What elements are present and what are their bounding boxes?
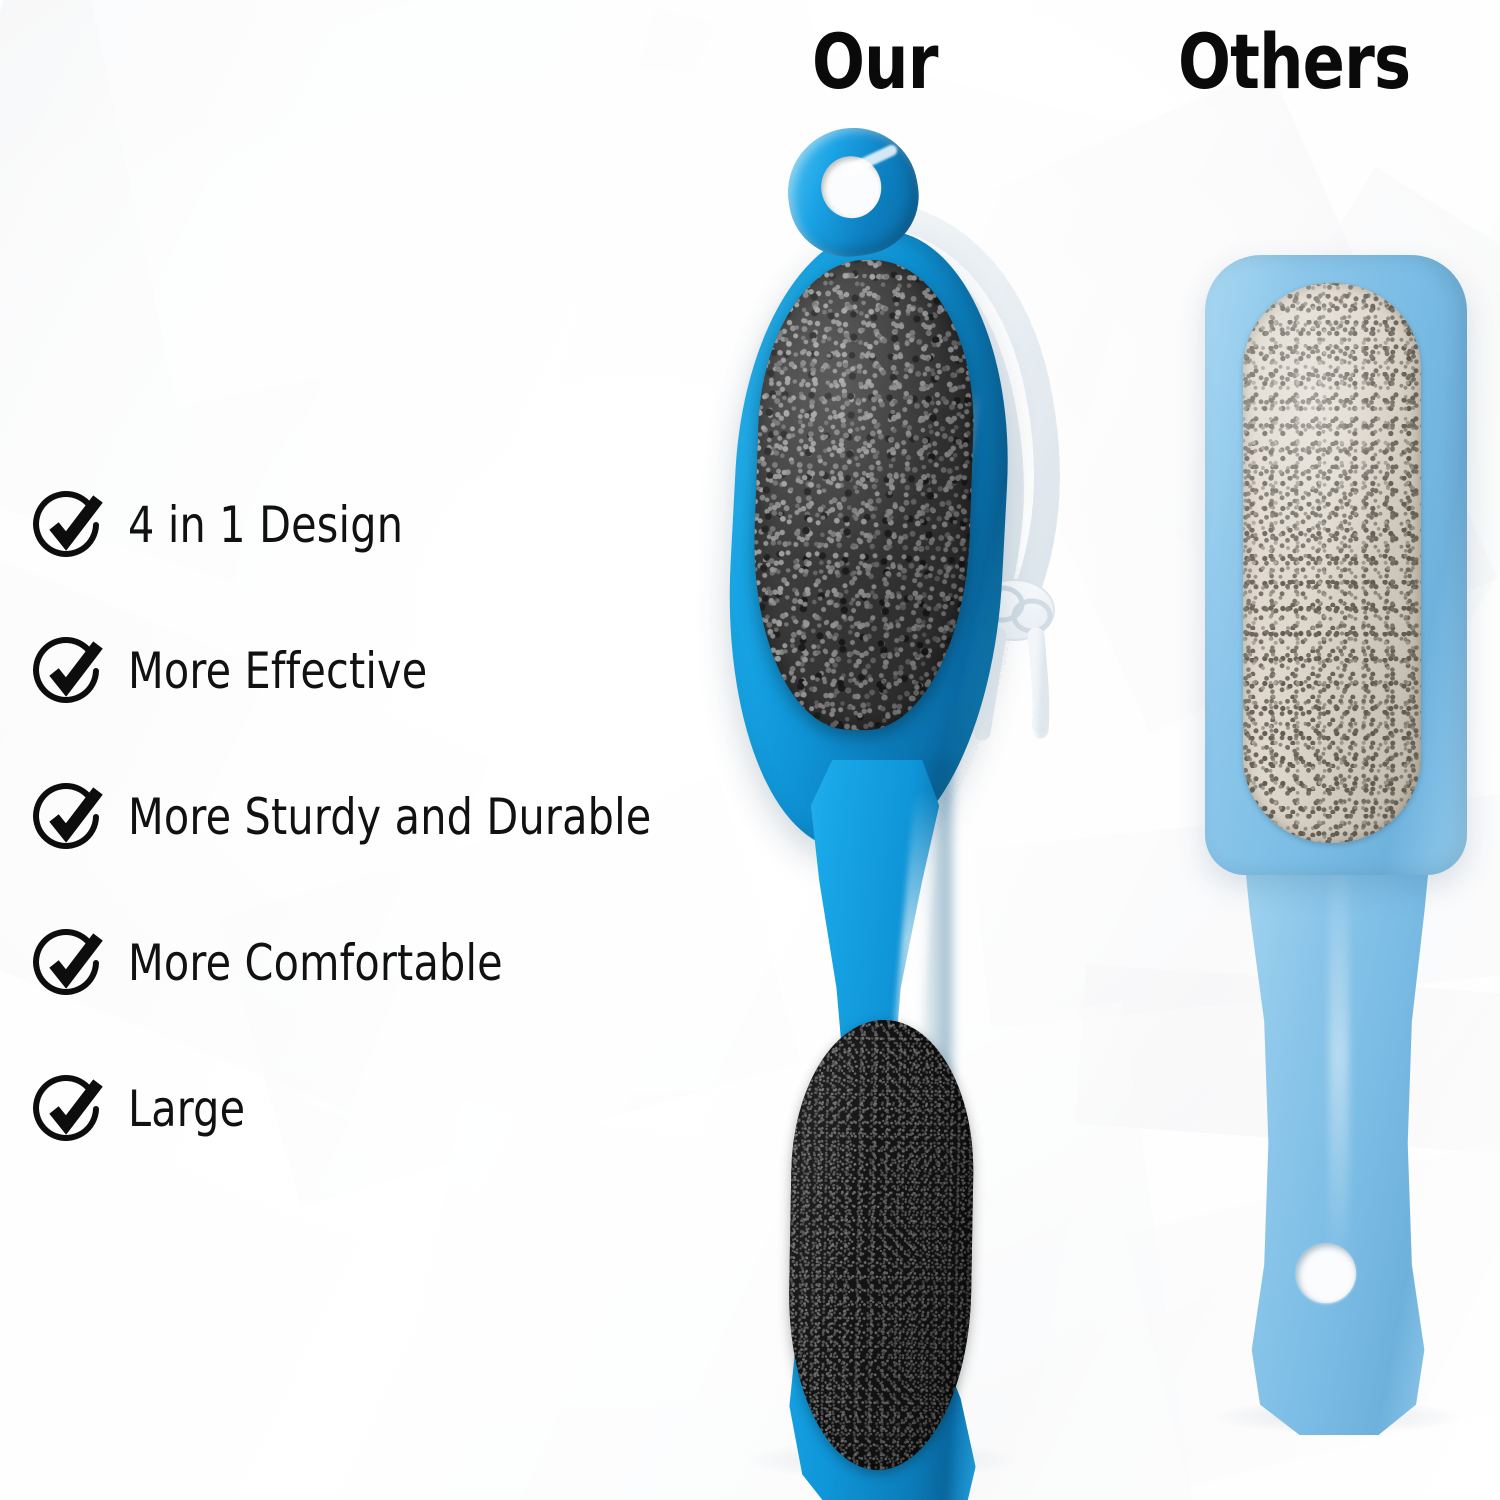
product-handle [768, 760, 982, 1500]
check-circle-icon [34, 781, 106, 853]
others-pumice-stone [1243, 283, 1421, 843]
check-circle-icon [34, 927, 106, 999]
others-hanging-hole [1296, 1243, 1356, 1303]
feature-label: 4 in 1 Design [128, 496, 403, 554]
column-header-others: Others [1178, 24, 1410, 100]
feature-label: More Comfortable [128, 934, 503, 992]
others-handle [1233, 827, 1441, 1435]
product-comparison-image: Our Others 4 in 1 Design More Effective [0, 0, 1500, 1500]
feature-label: More Effective [128, 642, 427, 700]
emery-file-pad [786, 1018, 976, 1471]
others-handle-highlight [1329, 847, 1349, 1267]
feature-label: Large [128, 1080, 245, 1138]
feature-label: More Sturdy and Durable [128, 788, 651, 846]
pumice-stone [748, 256, 979, 733]
product-image-ours [690, 120, 1160, 1500]
check-circle-icon [34, 635, 106, 707]
check-circle-icon [34, 489, 106, 561]
column-header-ours: Our [812, 24, 938, 100]
check-circle-icon [34, 1073, 106, 1145]
